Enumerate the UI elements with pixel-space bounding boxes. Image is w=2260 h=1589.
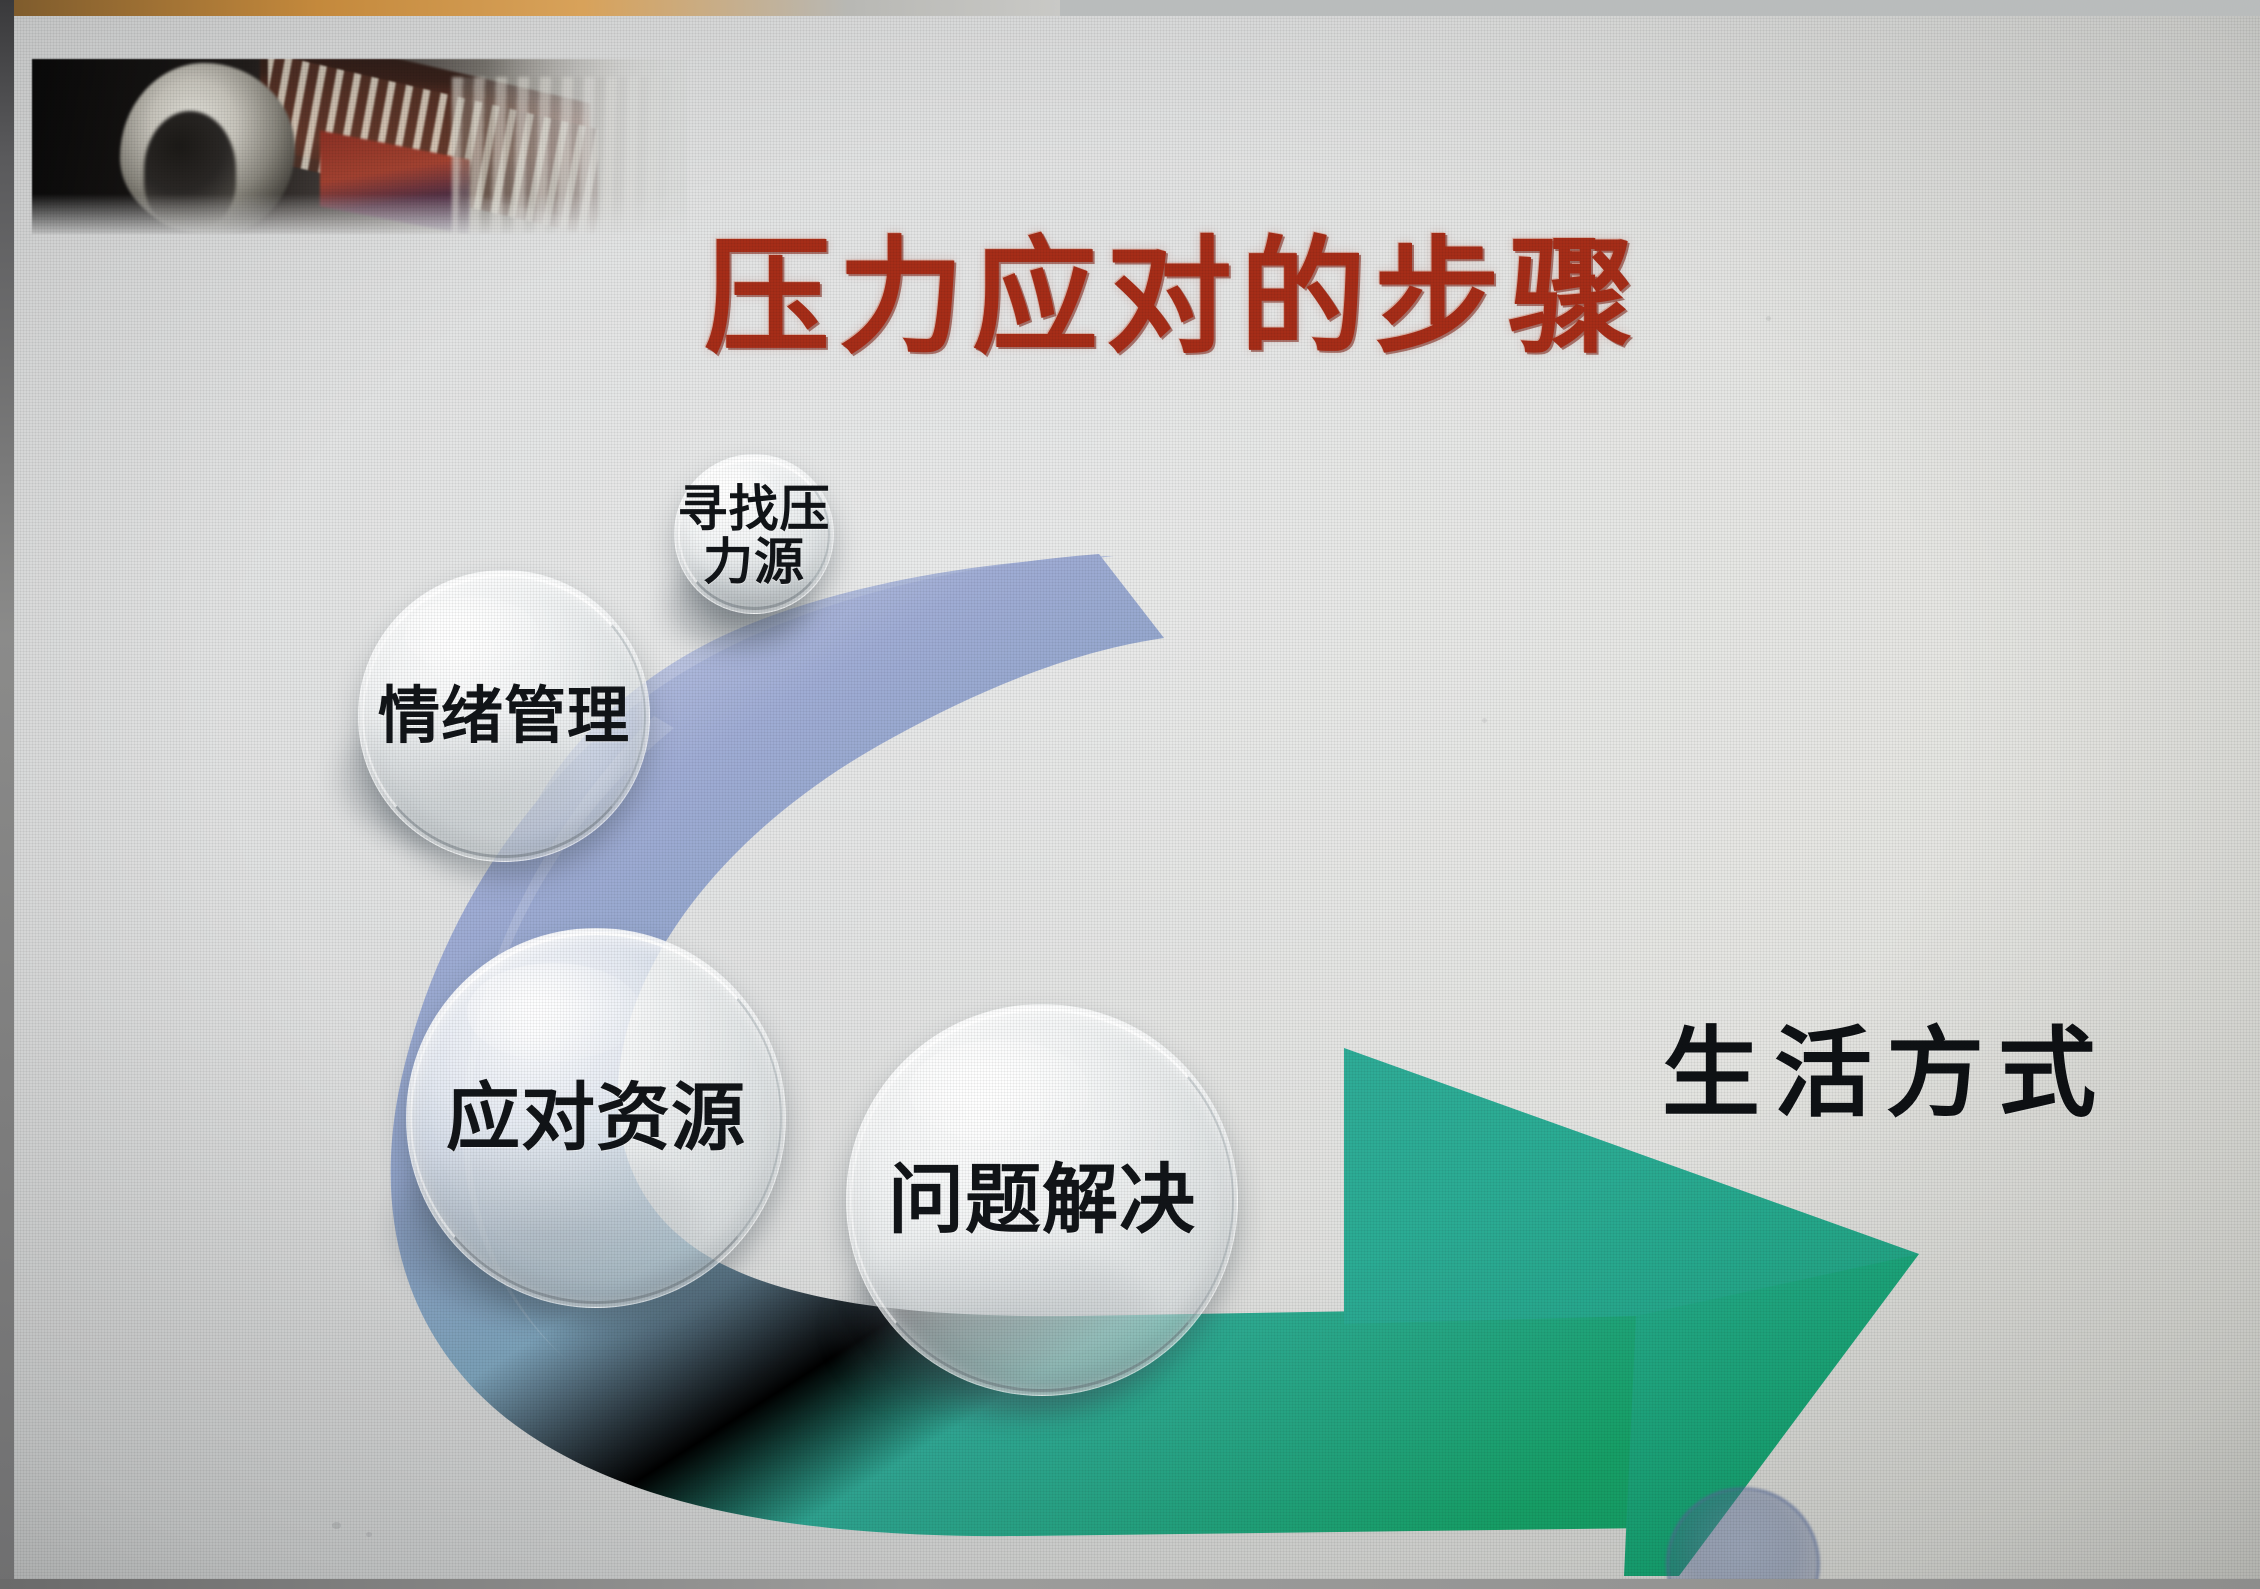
bubble-label-problem-solving: 问题解决 xyxy=(888,1160,1196,1241)
bubble-find-stress-source[interactable]: 寻找压力源 xyxy=(674,454,834,614)
bubble-label-coping-resources: 应对资源 xyxy=(446,1079,746,1157)
bubble-emotion-management[interactable]: 情绪管理 xyxy=(358,570,650,862)
screen-frame-left xyxy=(0,0,14,1589)
dust-speck xyxy=(1482,718,1487,723)
bubble-problem-solving[interactable]: 问题解决 xyxy=(846,1004,1238,1396)
banner-photo xyxy=(32,59,687,234)
dust-speck xyxy=(366,1532,372,1537)
bubble-label-find-stress-source: 寻找压力源 xyxy=(675,483,833,589)
bubble-coping-resources[interactable]: 应对资源 xyxy=(406,928,786,1308)
dust-speck xyxy=(1766,316,1771,321)
wall-trim-top xyxy=(0,0,1060,16)
screen-frame-bottom xyxy=(0,1579,2260,1589)
presentation-slide: 压力应对的步骤 xyxy=(14,16,2260,1579)
dust-speck xyxy=(332,1522,341,1529)
projected-slide-photo: 压力应对的步骤 xyxy=(0,0,2260,1589)
slide-title: 压力应对的步骤 xyxy=(704,234,1642,360)
circular-seal-watermark-icon xyxy=(1666,1487,1820,1579)
lifestyle-label: 生活方式 xyxy=(1662,994,2110,1136)
banner-photo-fade-bottom xyxy=(32,194,687,234)
bubble-label-emotion-management: 情绪管理 xyxy=(378,683,630,749)
